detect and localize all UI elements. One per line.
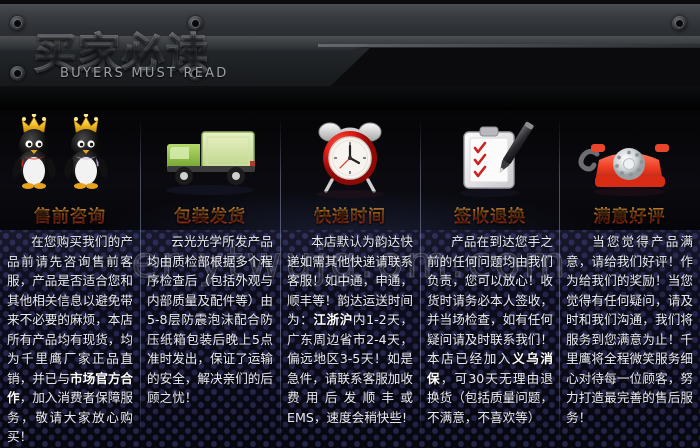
delivery-truck-icon — [140, 114, 280, 200]
red-telephone-icon — [559, 114, 700, 200]
column-body-inner: 在您购买我们的产品前请先咨询售前客服，产品是否适合您和其他相关信息以避免带来不必… — [7, 234, 133, 444]
column-heading: 快递时间 — [280, 202, 420, 227]
column-body-inner: 云光光学所发产品均由质检部根据多个程序检查后（包括外观与内部质量及配件等）由5-… — [147, 234, 273, 405]
column-delivery-time[interactable]: 快递时间 本店默认为韵达快递如需其他快递请联系客服！如中通，申通，顺丰等！韵达运… — [280, 110, 420, 448]
column-heading: 满意好评 — [559, 202, 700, 227]
buyers-must-read-banner: 买家必读 BUYERS MUST READ — [0, 0, 700, 448]
column-heading: 包装发货 — [140, 202, 280, 227]
column-body-text: 本店默认为韵达快递如需其他快递请联系客服！如中通，申通，顺丰等！韵达运送时间为：… — [287, 232, 413, 427]
column-satisfaction-review[interactable]: 满意好评 当您觉得产品满意，请给我们好评！作为给我们的奖励！当您觉得有任何疑问，… — [559, 110, 700, 448]
column-pre-sale-consultation[interactable]: 售前咨询 在您购买我们的产品前请先咨询售前客服，产品是否适合您和其他相关信息以避… — [0, 110, 140, 448]
alarm-clock-icon — [280, 114, 420, 200]
column-sign-return-exchange[interactable]: 签收退换 产品在到达您手之前的任何问题均由我们负责，您可以放心！收货时请务必本人… — [420, 110, 560, 448]
column-body-text: 云光光学所发产品均由质检部根据多个程序检查后（包括外观与内部质量及配件等）由5-… — [147, 232, 273, 408]
column-body-inner: 当您觉得产品满意，请给我们好评！作为给我们的奖励！当您觉得有任何疑问，请及时和我… — [566, 234, 693, 425]
column-body-text: 当您觉得产品满意，请给我们好评！作为给我们的奖励！当您觉得有任何疑问，请及时和我… — [566, 232, 693, 427]
column-body-text: 产品在到达您手之前的任何问题均由我们负责，您可以放心！收货时请务必本人签收，并当… — [427, 232, 553, 427]
clipboard-checklist-pen-icon — [420, 114, 560, 200]
column-heading: 售前咨询 — [0, 202, 140, 227]
column-body-inner: 本店默认为韵达快递如需其他快递请联系客服！如中通，申通，顺丰等！韵达运送时间为：… — [287, 234, 413, 425]
qq-penguin-icon — [0, 114, 140, 200]
column-body-text: 在您购买我们的产品前请先咨询售前客服，产品是否适合您和其他相关信息以避免带来不必… — [7, 232, 133, 447]
column-body-inner: 产品在到达您手之前的任何问题均由我们负责，您可以放心！收货时请务必本人签收，并当… — [427, 234, 553, 425]
column-packaging-shipping[interactable]: 包装发货 云光光学所发产品均由质检部根据多个程序检查后（包括外观与内部质量及配件… — [140, 110, 280, 448]
column-heading: 签收退换 — [420, 202, 560, 227]
